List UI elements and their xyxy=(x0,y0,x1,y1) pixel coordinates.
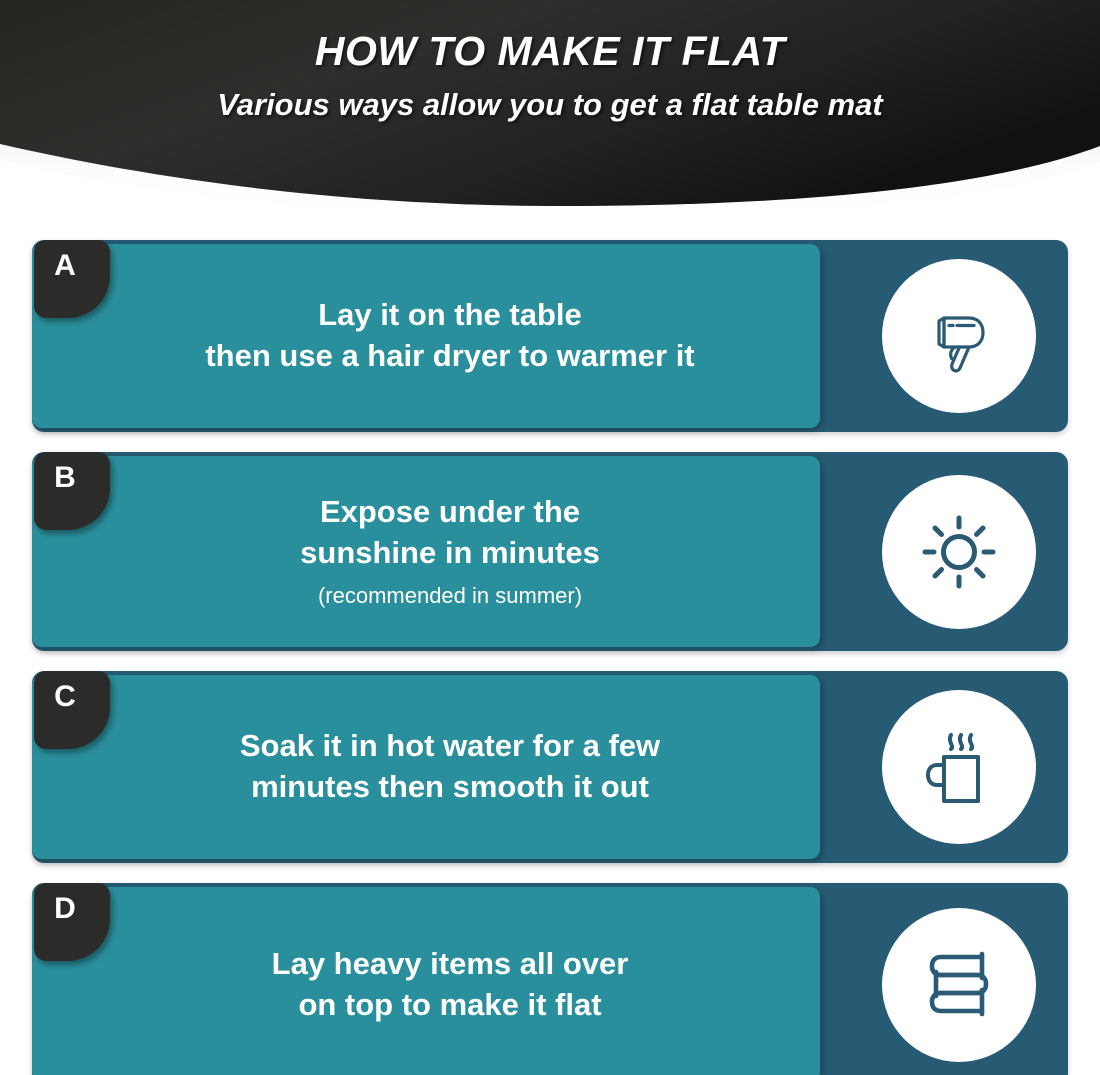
method-card-d[interactable]: D Lay heavy items all over on top to mak… xyxy=(32,883,1068,1075)
card-text-block-a: Lay it on the table then use a hair drye… xyxy=(92,240,808,432)
header-curve-shape xyxy=(0,0,1100,215)
card-line-2: on top to make it flat xyxy=(298,985,601,1026)
card-line-1: Lay heavy items all over xyxy=(272,944,629,985)
card-line-1: Soak it in hot water for a few xyxy=(240,726,660,767)
icon-circle-c xyxy=(882,690,1036,844)
methods-list: A Lay it on the table then use a hair dr… xyxy=(0,240,1100,1075)
letter-badge-label: D xyxy=(34,892,96,926)
method-card-a[interactable]: A Lay it on the table then use a hair dr… xyxy=(32,240,1068,432)
stacked-books-icon xyxy=(919,947,999,1023)
letter-badge-label: B xyxy=(34,461,96,495)
letter-badge-label: A xyxy=(34,249,96,283)
card-note: (recommended in summer) xyxy=(318,581,582,612)
card-line-2: sunshine in minutes xyxy=(300,533,600,574)
hair-dryer-icon xyxy=(922,299,996,373)
card-line-2: then use a hair dryer to warmer it xyxy=(205,336,694,377)
card-line-1: Lay it on the table xyxy=(318,295,582,336)
card-text-block-b: Expose under the sunshine in minutes (re… xyxy=(92,452,808,651)
card-line-1: Expose under the xyxy=(320,492,580,533)
method-card-b[interactable]: B Expose under the sunshine in minutes (… xyxy=(32,452,1068,651)
method-card-c[interactable]: C Soak it in hot water for a few minutes… xyxy=(32,671,1068,863)
card-text-block-c: Soak it in hot water for a few minutes t… xyxy=(92,671,808,863)
sun-icon xyxy=(918,511,1000,593)
card-text-block-d: Lay heavy items all over on top to make … xyxy=(92,883,808,1075)
header-banner: HOW TO MAKE IT FLAT Various ways allow y… xyxy=(0,0,1100,215)
icon-circle-d xyxy=(882,908,1036,1062)
hot-mug-icon xyxy=(920,727,998,807)
icon-circle-b xyxy=(882,475,1036,629)
card-line-2: minutes then smooth it out xyxy=(251,767,649,808)
icon-circle-a xyxy=(882,259,1036,413)
letter-badge-label: C xyxy=(34,680,96,714)
infographic-page: HOW TO MAKE IT FLAT Various ways allow y… xyxy=(0,0,1100,1075)
